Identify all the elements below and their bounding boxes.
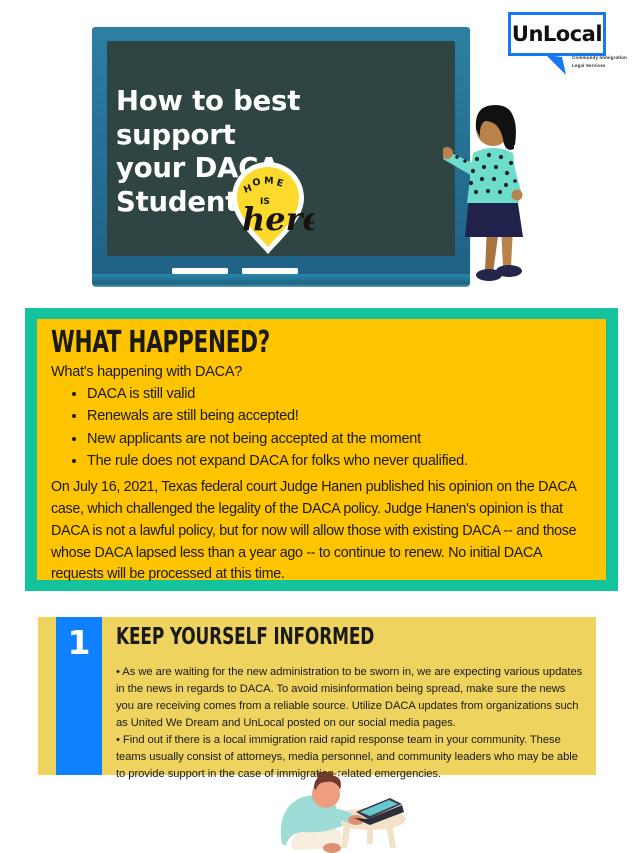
section-one-body: • As we are waiting for the new administ… (116, 664, 586, 783)
logo-tagline-line1: Community Immigration (572, 54, 638, 62)
what-happened-panel: WHAT HAPPENED? What's happening with DAC… (37, 319, 606, 580)
chalkboard-ledge (92, 274, 470, 287)
home-is-here-pin-icon: H O M E IS here HOME IS here (222, 158, 314, 258)
pin-home-m: M (264, 176, 274, 187)
section-one-bullet-one: • As we are waiting for the new administ… (116, 664, 586, 732)
what-happened-section: WHAT HAPPENED? What's happening with DAC… (25, 308, 618, 591)
what-happened-bullet-list: DACA is still valid Renewals are still b… (63, 383, 468, 473)
logo-tagline: Community Immigration Legal Services (572, 54, 638, 70)
list-item: New applicants are not being accepted at… (87, 428, 468, 450)
logo-wordmark: UnLocal (511, 15, 603, 53)
section-one: 1 KEEP YOURSELF INFORMED • As we are wai… (38, 617, 596, 775)
chalkboard: How to best support your DACA Students H… (92, 27, 470, 287)
what-happened-paragraph: On July 16, 2021, Texas federal court Ju… (51, 477, 596, 586)
list-item: DACA is still valid (87, 383, 468, 405)
what-happened-subheading: What's happening with DACA? (51, 364, 242, 380)
chalkboard-title-line1: How to best support (116, 85, 416, 152)
person-with-laptop-illustration (252, 772, 422, 853)
logo-tagline-line2: Legal Services (572, 62, 638, 70)
infographic-page: UnLocal Community Immigration Legal Serv… (0, 0, 640, 853)
logo-tail-icon (546, 55, 568, 77)
teacher-illustration (443, 95, 543, 290)
list-item: The rule does not expand DACA for folks … (87, 450, 468, 472)
section-one-heading: KEEP YOURSELF INFORMED (116, 624, 374, 650)
logo-bubble: UnLocal (508, 12, 606, 56)
unlocal-logo: UnLocal Community Immigration Legal Serv… (508, 12, 628, 76)
what-happened-heading: WHAT HAPPENED? (51, 325, 270, 360)
chalk-stick-icon (242, 268, 298, 274)
chalk-stick-icon (172, 268, 228, 274)
list-item: Renewals are still being accepted! (87, 405, 468, 427)
section-one-number-badge: 1 (56, 617, 102, 775)
pin-here-text: here (242, 200, 314, 238)
